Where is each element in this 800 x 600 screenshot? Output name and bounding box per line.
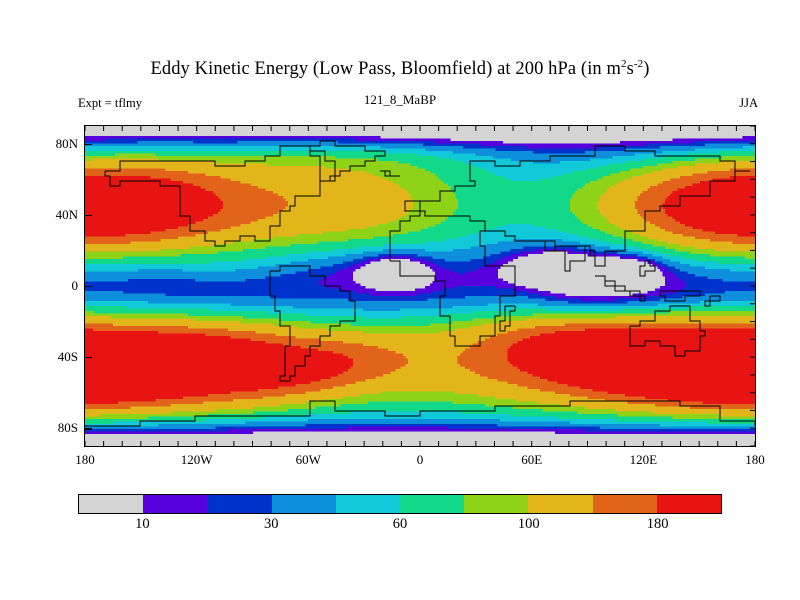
contour-map-svg [85, 126, 755, 446]
x-axis-tick-label-120W: 120W [181, 452, 213, 468]
colorbar-bin-20-30 [207, 495, 271, 513]
y-axis-tick-label-40S: 40S [58, 349, 78, 365]
y-axis-tick-label-40N: 40N [56, 207, 78, 223]
colorbar-tick-label-10: 10 [135, 516, 150, 533]
title-superscript-minus2: -2 [634, 58, 643, 70]
colorbar-tick-label-100: 100 [518, 516, 540, 533]
x-axis-tick-label-120E: 120E [630, 452, 657, 468]
y-axis-tick-label-80N: 80N [56, 136, 78, 152]
y-axis-tick-mark [85, 428, 92, 429]
colorbar-bin-10-20 [143, 495, 207, 513]
title-text-after: ) [643, 59, 649, 79]
y-axis-tick-label-80S: 80S [58, 420, 78, 436]
x-axis-labels: 180120W60W060E120E180 [85, 452, 755, 472]
colorbar-bin-60-80 [400, 495, 464, 513]
page-title: Eddy Kinetic Energy (Low Pass, Bloomfiel… [0, 58, 800, 80]
title-text-before: Eddy Kinetic Energy (Low Pass, Bloomfiel… [150, 59, 621, 79]
y-axis-labels: 80N40N040S80S [0, 126, 78, 446]
colorbar-bin-45-60 [336, 495, 400, 513]
x-axis-tick-label-60W: 60W [296, 452, 321, 468]
x-axis-tick-label-0: 0 [417, 452, 424, 468]
y-axis-tick-mark [85, 286, 92, 287]
map-plot-area [85, 126, 755, 446]
x-axis-tick-label-180: 180 [75, 452, 95, 468]
season-label: JJA [739, 96, 758, 111]
y-axis-tick-label-0: 0 [72, 278, 79, 294]
colorbar [78, 494, 722, 514]
y-axis-tick-mark [85, 144, 92, 145]
colorbar-tick-label-30: 30 [264, 516, 279, 533]
colorbar-bin-30-45 [272, 495, 336, 513]
colorbar-bin-140-180 [593, 495, 657, 513]
title-mid: s [627, 59, 634, 79]
colorbar-labels: 103060100180 [78, 516, 722, 538]
colorbar-bin-below-10 [79, 495, 143, 513]
x-axis-tick-label-60E: 60E [521, 452, 542, 468]
x-axis-tick-label-180: 180 [745, 452, 765, 468]
colorbar-bin-80-100 [464, 495, 528, 513]
colorbar-tick-label-180: 180 [647, 516, 669, 533]
plot-page: Eddy Kinetic Energy (Low Pass, Bloomfiel… [0, 0, 800, 600]
colorbar-tick-label-60: 60 [393, 516, 408, 533]
run-identifier-label: 121_8_MaBP [0, 92, 800, 108]
y-axis-tick-mark [85, 215, 92, 216]
y-axis-tick-mark [85, 357, 92, 358]
colorbar-bin-above-180 [657, 495, 721, 513]
colorbar-bin-100-140 [528, 495, 592, 513]
